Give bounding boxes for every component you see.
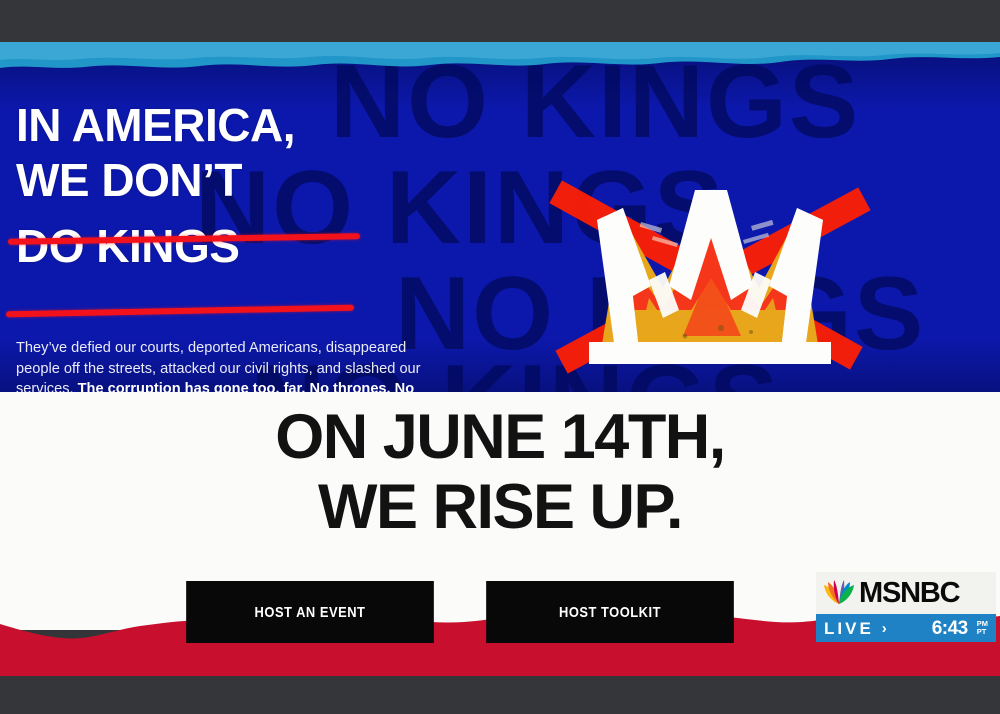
live-label: LIVE xyxy=(824,620,874,637)
live-status-bar: LIVE › 6:43 PM PT xyxy=(816,614,996,642)
chevron-right-icon: › xyxy=(882,621,887,636)
timezone-block: PM PT xyxy=(977,620,988,636)
cta-line-1: ON JUNE 14TH, xyxy=(0,404,1000,470)
letterbox-bottom-bar xyxy=(0,676,1000,714)
video-frame: NO KINGS NO KINGS NO KINGS NO KINGS IN A… xyxy=(0,0,1000,714)
poster-body-text: They’ve defied our courts, deported Amer… xyxy=(16,338,448,392)
cta-line-2: WE RISE UP. xyxy=(0,474,1000,540)
msnbc-wordmark: MSNBC xyxy=(859,579,959,608)
poster-headline: IN AMERICA, WE DON’T DO KINGS xyxy=(16,102,446,273)
crossed-out-crown-icon xyxy=(545,160,875,390)
headline-line-1: IN AMERICA, xyxy=(16,102,446,148)
host-an-event-label: HOST AN EVENT xyxy=(255,604,366,621)
host-toolkit-label: HOST TOOLKIT xyxy=(559,604,661,621)
timezone-label: PT xyxy=(977,628,988,636)
host-toolkit-button[interactable]: HOST TOOLKIT xyxy=(486,581,734,643)
msnbc-channel-bug: MSNBC LIVE › 6:43 PM PT xyxy=(816,572,996,644)
poster-blue-panel: NO KINGS NO KINGS NO KINGS NO KINGS IN A… xyxy=(0,48,1000,392)
msnbc-logo-row: MSNBC xyxy=(816,572,996,614)
letterbox-top-bar xyxy=(0,0,1000,42)
headline-line-3: DO KINGS xyxy=(16,223,446,269)
torn-edge-top xyxy=(0,48,1000,76)
headline-line-2: WE DON’T xyxy=(16,157,446,203)
nbc-peacock-icon xyxy=(822,578,856,608)
cta-button-row: HOST AN EVENT HOST TOOLKIT xyxy=(166,581,754,643)
clock-time: 6:43 xyxy=(932,619,968,638)
host-an-event-button[interactable]: HOST AN EVENT xyxy=(186,581,434,643)
call-to-action-heading: ON JUNE 14TH, WE RISE UP. xyxy=(0,404,1000,540)
